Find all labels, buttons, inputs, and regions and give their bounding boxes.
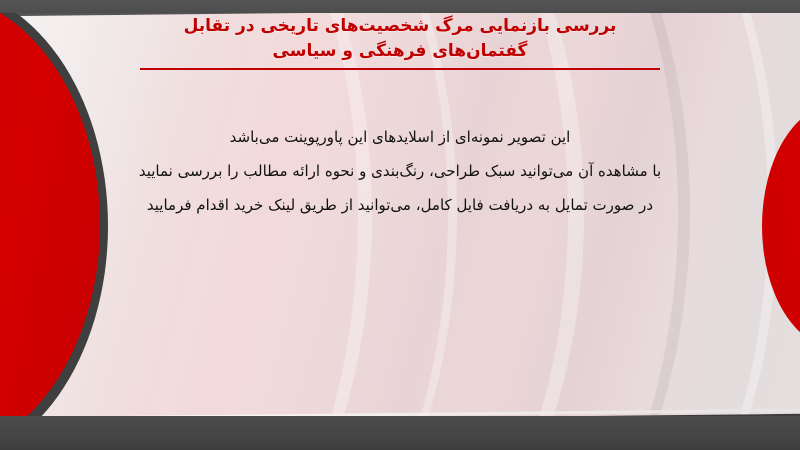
body-line-3: در صورت تمایل به دریافت فایل کامل، می‌تو…	[0, 188, 800, 222]
body-line-1: این تصویر نمونه‌ای از اسلایدهای این پاور…	[0, 120, 800, 154]
title-line-1: بررسی بازنمایی مرگ شخصیت‌های تاریخی در ت…	[0, 14, 800, 39]
title-underline	[140, 68, 660, 70]
slide-title: بررسی بازنمایی مرگ شخصیت‌های تاریخی در ت…	[0, 14, 800, 64]
presentation-slide: بررسی بازنمایی مرگ شخصیت‌های تاریخی در ت…	[0, 0, 800, 450]
title-line-2: گفتمان‌های فرهنگی و سیاسی	[0, 39, 800, 64]
body-line-2: با مشاهده آن می‌توانید سبک طراحی، رنگ‌بن…	[0, 154, 800, 188]
slide-content: بررسی بازنمایی مرگ شخصیت‌های تاریخی در ت…	[0, 0, 800, 450]
slide-body: این تصویر نمونه‌ای از اسلایدهای این پاور…	[0, 120, 800, 222]
